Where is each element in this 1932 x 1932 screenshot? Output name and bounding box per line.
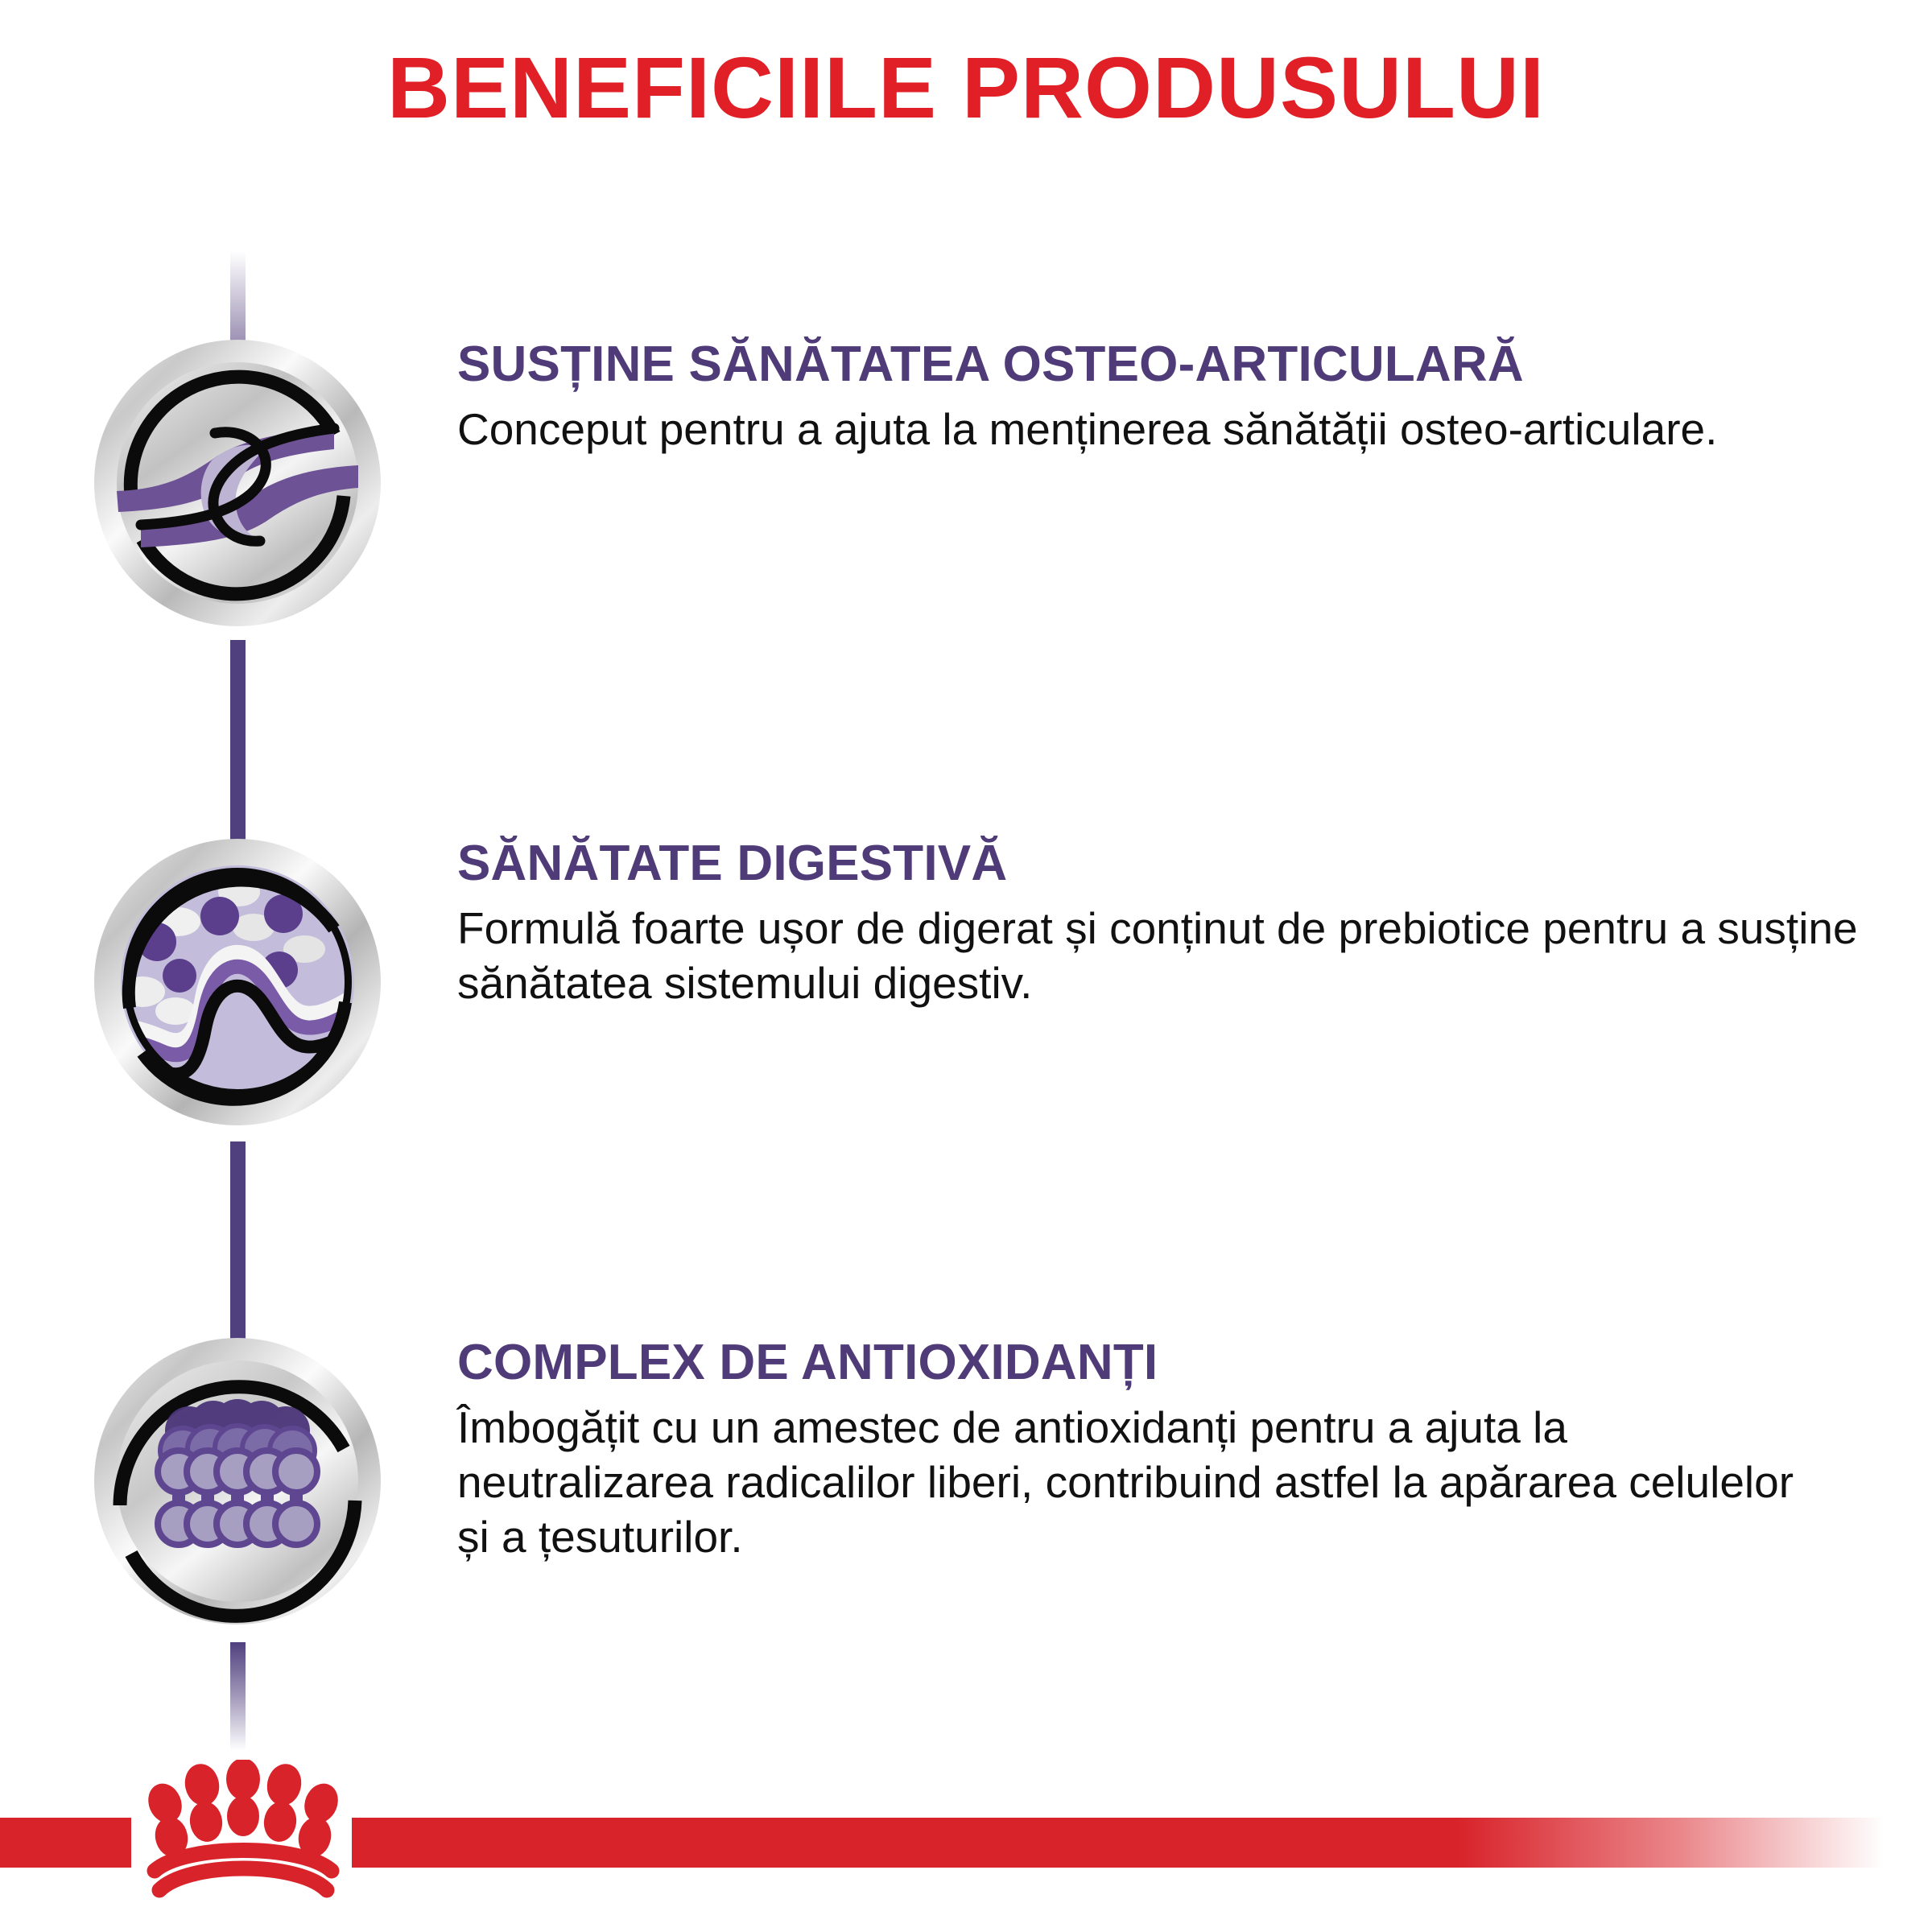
digestive-health-icon: [93, 837, 382, 1127]
benefit-description: Conceput pentru a ajuta la menținerea să…: [457, 402, 1850, 456]
timeline-connector-bottom: [230, 1642, 246, 1751]
benefit-description: Îmbogățit cu un amestec de antioxidanți …: [457, 1400, 1826, 1565]
benefit-title: SĂNĂTATE DIGESTIVĂ: [457, 837, 1874, 890]
joint-bone-icon: [93, 338, 382, 628]
benefit-title: SUSȚINE SĂNĂTATEA OSTEO-ARTICULARĂ: [457, 338, 1874, 390]
page-title: BENEFICIILE PRODUSULUI: [0, 42, 1932, 133]
product-benefits-page: BENEFICIILE PRODUSULUI: [0, 0, 1932, 1932]
footer-bar-right: [352, 1818, 1932, 1868]
benefit-copy-antioxidants: COMPLEX DE ANTIOXIDANȚI Îmbogățit cu un …: [457, 1336, 1874, 1565]
footer-brand-bar: [0, 1818, 1932, 1868]
antioxidant-cell-membrane-icon: [93, 1336, 382, 1626]
royal-canin-crown-logo: [135, 1760, 351, 1913]
benefit-description: Formulă foarte ușor de digerat și conțin…: [457, 901, 1858, 1010]
benefit-title: COMPLEX DE ANTIOXIDANȚI: [457, 1336, 1874, 1389]
benefit-copy-joint: SUSȚINE SĂNĂTATEA OSTEO-ARTICULARĂ Conce…: [457, 338, 1874, 456]
footer-bar-left: [0, 1818, 131, 1868]
benefit-copy-digestive: SĂNĂTATE DIGESTIVĂ Formulă foarte ușor d…: [457, 837, 1874, 1010]
